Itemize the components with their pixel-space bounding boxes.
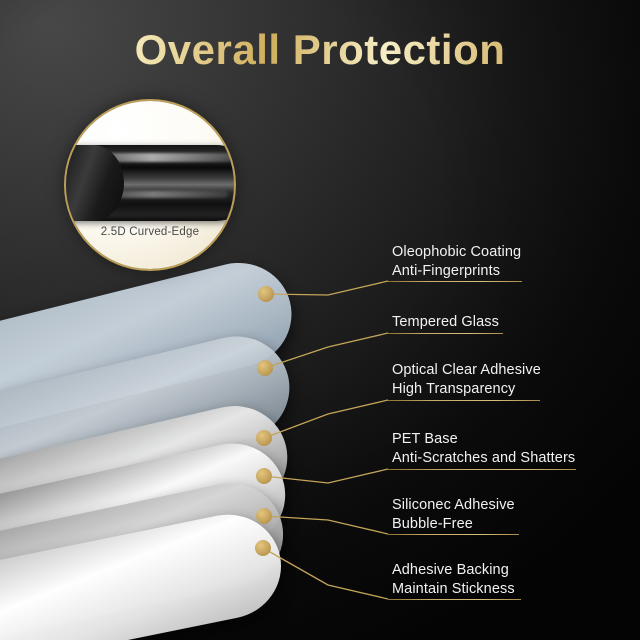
- label-siliconec-adhesive: Siliconec AdhesiveBubble-Free: [392, 496, 515, 534]
- label-underline-adhesive-backing: [388, 599, 521, 600]
- label-line-primary: Tempered Glass: [392, 313, 499, 332]
- inset-caption: 2.5D Curved-Edge: [66, 226, 234, 238]
- label-line-secondary: Anti-Scratches and Shatters: [392, 449, 575, 468]
- label-line-primary: Siliconec Adhesive: [392, 496, 515, 515]
- page-title: Overall Protection: [0, 22, 640, 78]
- label-line-primary: PET Base: [392, 430, 575, 449]
- callout-dot-tempered-glass[interactable]: [257, 360, 273, 376]
- label-line-primary: Adhesive Backing: [392, 561, 515, 580]
- callout-dot-adhesive-backing[interactable]: [255, 540, 271, 556]
- label-line-secondary: High Transparency: [392, 380, 541, 399]
- callout-dot-oleophobic-coating[interactable]: [258, 286, 274, 302]
- product-infographic: Overall Protection 2.5D Curved-Edge Oleo…: [0, 0, 640, 640]
- callout-dot-siliconec-adhesive[interactable]: [256, 508, 272, 524]
- callout-dot-optical-clear-adhesive[interactable]: [256, 430, 272, 446]
- label-line-secondary: Anti-Fingerprints: [392, 262, 521, 281]
- label-underline-oleophobic-coating: [388, 281, 522, 282]
- label-tempered-glass: Tempered Glass: [392, 313, 499, 332]
- label-underline-optical-clear-adhesive: [388, 400, 540, 401]
- callout-dot-pet-base[interactable]: [256, 468, 272, 484]
- label-adhesive-backing: Adhesive BackingMaintain Stickness: [392, 561, 515, 599]
- label-line-primary: Oleophobic Coating: [392, 243, 521, 262]
- label-line-secondary: Bubble-Free: [392, 515, 515, 534]
- layer-stack: [0, 0, 640, 640]
- label-line-primary: Optical Clear Adhesive: [392, 361, 541, 380]
- label-pet-base: PET BaseAnti-Scratches and Shatters: [392, 430, 575, 468]
- curved-edge-inset: 2.5D Curved-Edge: [66, 101, 234, 269]
- label-underline-pet-base: [388, 469, 576, 470]
- label-underline-tempered-glass: [388, 333, 503, 334]
- label-optical-clear-adhesive: Optical Clear AdhesiveHigh Transparency: [392, 361, 541, 399]
- label-oleophobic-coating: Oleophobic CoatingAnti-Fingerprints: [392, 243, 521, 281]
- label-underline-siliconec-adhesive: [388, 534, 519, 535]
- label-line-secondary: Maintain Stickness: [392, 580, 515, 599]
